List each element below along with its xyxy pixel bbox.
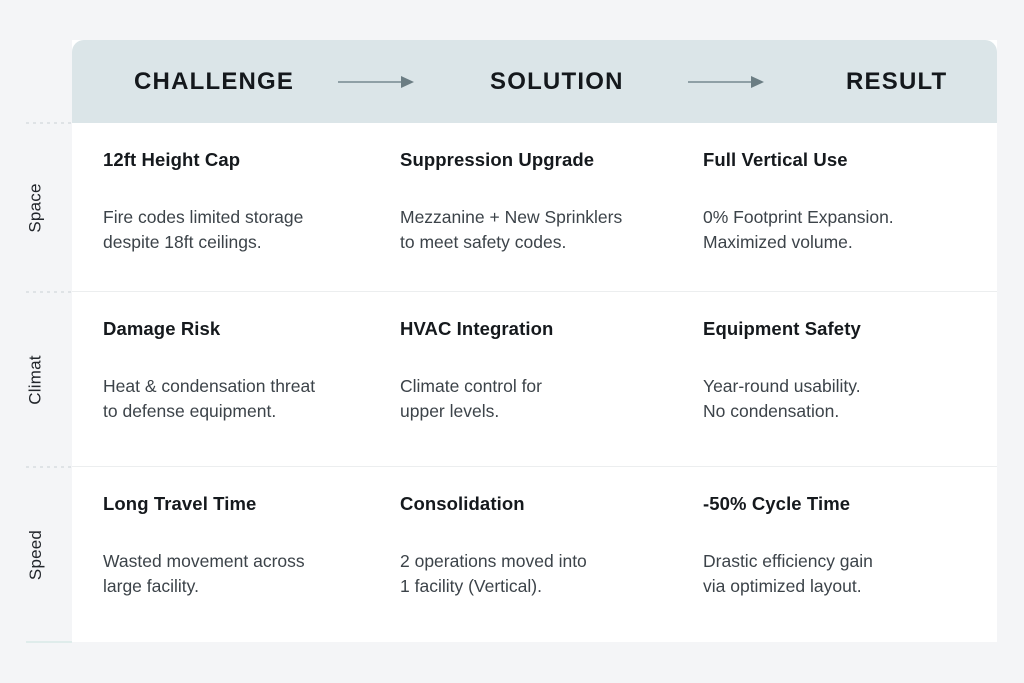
cell-body: Climate control for upper levels.: [400, 374, 692, 424]
cell-result: Equipment Safety Year-round usability. N…: [692, 318, 997, 466]
cell-title: HVAC Integration: [400, 318, 692, 340]
row-label-rail: Space Climat Speed: [0, 0, 72, 683]
arrow-right-icon-2: [688, 76, 767, 88]
cell-title: Consolidation: [400, 493, 692, 515]
cell-body: Year-round usability. No condensation.: [703, 374, 997, 424]
cell-challenge: Long Travel Time Wasted movement across …: [72, 493, 386, 642]
rail-label-space: Space: [0, 123, 72, 292]
arrow-head: [401, 76, 414, 88]
rail-label-climate-text: Climat: [26, 355, 46, 404]
cell-result: -50% Cycle Time Drastic efficiency gain …: [692, 493, 997, 642]
arrow-shaft: [688, 81, 752, 83]
cell-title: Full Vertical Use: [703, 149, 997, 171]
cell-body: Wasted movement across large facility.: [103, 549, 386, 599]
cell-body: 2 operations moved into 1 facility (Vert…: [400, 549, 692, 599]
rail-label-climate: Climat: [0, 292, 72, 467]
cell-title: Equipment Safety: [703, 318, 997, 340]
arrow-head: [751, 76, 764, 88]
cell-title: -50% Cycle Time: [703, 493, 997, 515]
column-header-solution: SOLUTION: [417, 68, 688, 96]
rail-label-speed-text: Speed: [26, 529, 46, 579]
arrow-right-icon: [338, 76, 417, 88]
comparison-table-page: Space Climat Speed CHALLENGE SOLUTION RE…: [0, 0, 1024, 683]
cell-body: Heat & condensation threat to defense eq…: [103, 374, 386, 424]
rail-label-space-text: Space: [26, 183, 46, 232]
cell-challenge: 12ft Height Cap Fire codes limited stora…: [72, 149, 386, 291]
cell-result: Full Vertical Use 0% Footprint Expansion…: [692, 149, 997, 291]
cell-title: Suppression Upgrade: [400, 149, 692, 171]
cell-body: Mezzanine + New Sprinklers to meet safet…: [400, 205, 692, 255]
cell-solution: Consolidation 2 operations moved into 1 …: [386, 493, 692, 642]
cell-body: Drastic efficiency gain via optimized la…: [703, 549, 997, 599]
cell-body: Fire codes limited storage despite 18ft …: [103, 205, 386, 255]
cell-title: 12ft Height Cap: [103, 149, 386, 171]
table-row: Long Travel Time Wasted movement across …: [72, 467, 997, 642]
cell-solution: HVAC Integration Climate control for upp…: [386, 318, 692, 466]
cell-title: Long Travel Time: [103, 493, 386, 515]
comparison-table: CHALLENGE SOLUTION RESULT 12ft Height Ca…: [72, 40, 997, 642]
table-row: 12ft Height Cap Fire codes limited stora…: [72, 123, 997, 292]
cell-solution: Suppression Upgrade Mezzanine + New Spri…: [386, 149, 692, 291]
table-header-row: CHALLENGE SOLUTION RESULT: [72, 40, 997, 123]
column-header-challenge: CHALLENGE: [72, 68, 338, 96]
rail-label-speed: Speed: [0, 467, 72, 642]
arrow-shaft: [338, 81, 402, 83]
table-row: Damage Risk Heat & condensation threat t…: [72, 292, 997, 467]
column-header-result: RESULT: [767, 68, 1024, 96]
cell-title: Damage Risk: [103, 318, 386, 340]
cell-challenge: Damage Risk Heat & condensation threat t…: [72, 318, 386, 466]
cell-body: 0% Footprint Expansion. Maximized volume…: [703, 205, 997, 255]
